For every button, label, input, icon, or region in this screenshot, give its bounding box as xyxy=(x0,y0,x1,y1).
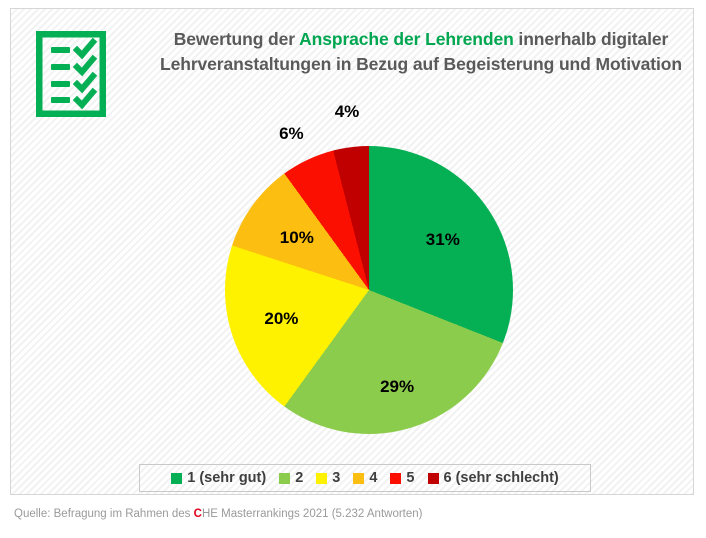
title-accent: Ansprache der Lehrenden xyxy=(299,29,514,49)
chart-legend: 1 (sehr gut)23456 (sehr schlecht) xyxy=(139,464,591,492)
legend-item-1[interactable]: 1 (sehr gut) xyxy=(171,470,266,486)
legend-item-label: 3 xyxy=(332,470,340,486)
pie-chart: 31%29%20%10%6%4% xyxy=(225,146,513,434)
pie-label-2: 29% xyxy=(380,377,414,397)
legend-item-label: 4 xyxy=(369,470,377,486)
legend-item-label: 1 (sehr gut) xyxy=(187,470,266,486)
legend-item-label: 5 xyxy=(406,470,414,486)
legend-swatch-icon xyxy=(390,473,401,484)
source-suffix: HE Masterrankings 2021 (5.232 Antworten) xyxy=(202,508,423,520)
pie-label-1: 31% xyxy=(426,230,460,250)
legend-swatch-icon xyxy=(279,473,290,484)
source-prefix: Quelle: Befragung im Rahmen des xyxy=(14,508,194,520)
pie-slices xyxy=(225,146,513,434)
pie-label-5: 6% xyxy=(279,124,304,144)
legend-item-2[interactable]: 2 xyxy=(279,470,303,486)
source-note: Quelle: Befragung im Rahmen des CHE Mast… xyxy=(14,508,423,520)
legend-item-4[interactable]: 4 xyxy=(353,470,377,486)
legend-item-label: 6 (sehr schlecht) xyxy=(444,470,559,486)
pie-label-6: 4% xyxy=(335,102,360,122)
pie-label-4: 10% xyxy=(280,228,314,248)
pie-label-3: 20% xyxy=(264,309,298,329)
legend-item-6[interactable]: 6 (sehr schlecht) xyxy=(428,470,559,486)
clipboard-checklist-icon xyxy=(36,31,106,117)
source-che-initial: C xyxy=(194,508,202,520)
title-part-1: Bewertung der xyxy=(174,29,299,49)
legend-item-3[interactable]: 3 xyxy=(316,470,340,486)
page-title: Bewertung der Ansprache der Lehrenden in… xyxy=(151,27,691,77)
legend-swatch-icon xyxy=(353,473,364,484)
legend-swatch-icon xyxy=(428,473,439,484)
legend-swatch-icon xyxy=(316,473,327,484)
legend-swatch-icon xyxy=(171,473,182,484)
chart-frame: Bewertung der Ansprache der Lehrenden in… xyxy=(10,8,694,495)
legend-item-5[interactable]: 5 xyxy=(390,470,414,486)
legend-item-label: 2 xyxy=(295,470,303,486)
